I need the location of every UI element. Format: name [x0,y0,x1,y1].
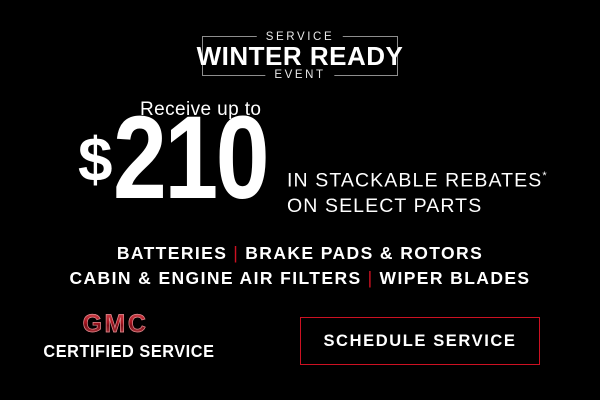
brand-subtitle: CERTIFIED SERVICE [43,340,187,362]
parts-row-2: CABIN & ENGINE AIR FILTERS|WIPER BLADES [0,266,600,291]
parts-row-1: BATTERIES|BRAKE PADS & ROTORS [0,241,600,266]
part-item: CABIN & ENGINE AIR FILTERS [69,268,361,288]
event-badge: SERVICE WINTER READY EVENT [202,36,398,76]
gmc-logo: GMC [83,311,149,337]
offer-description: IN STACKABLE REBATES* ON SELECT PARTS [287,164,547,219]
offer-description-line2: ON SELECT PARTS [287,195,482,217]
parts-separator: | [362,268,380,288]
schedule-service-button[interactable]: SCHEDULE SERVICE [300,317,540,365]
offer-amount: 210 [113,112,267,204]
part-item: WIPER BLADES [380,268,531,288]
offer-price: $ 210 [78,112,301,204]
badge-bottom-label: EVENT [265,69,334,81]
brand-lockup: GMC CERTIFIED SERVICE [38,311,193,362]
disclaimer-marker: * [542,170,546,182]
currency-symbol: $ [78,130,111,192]
part-item: BRAKE PADS & ROTORS [245,243,483,263]
advertisement-banner: SERVICE WINTER READY EVENT Receive up to… [0,0,600,400]
offer-description-line1: IN STACKABLE REBATES [287,170,542,192]
eligible-parts-list: BATTERIES|BRAKE PADS & ROTORS CABIN & EN… [0,241,600,291]
part-item: BATTERIES [117,243,227,263]
parts-separator: | [227,243,245,263]
